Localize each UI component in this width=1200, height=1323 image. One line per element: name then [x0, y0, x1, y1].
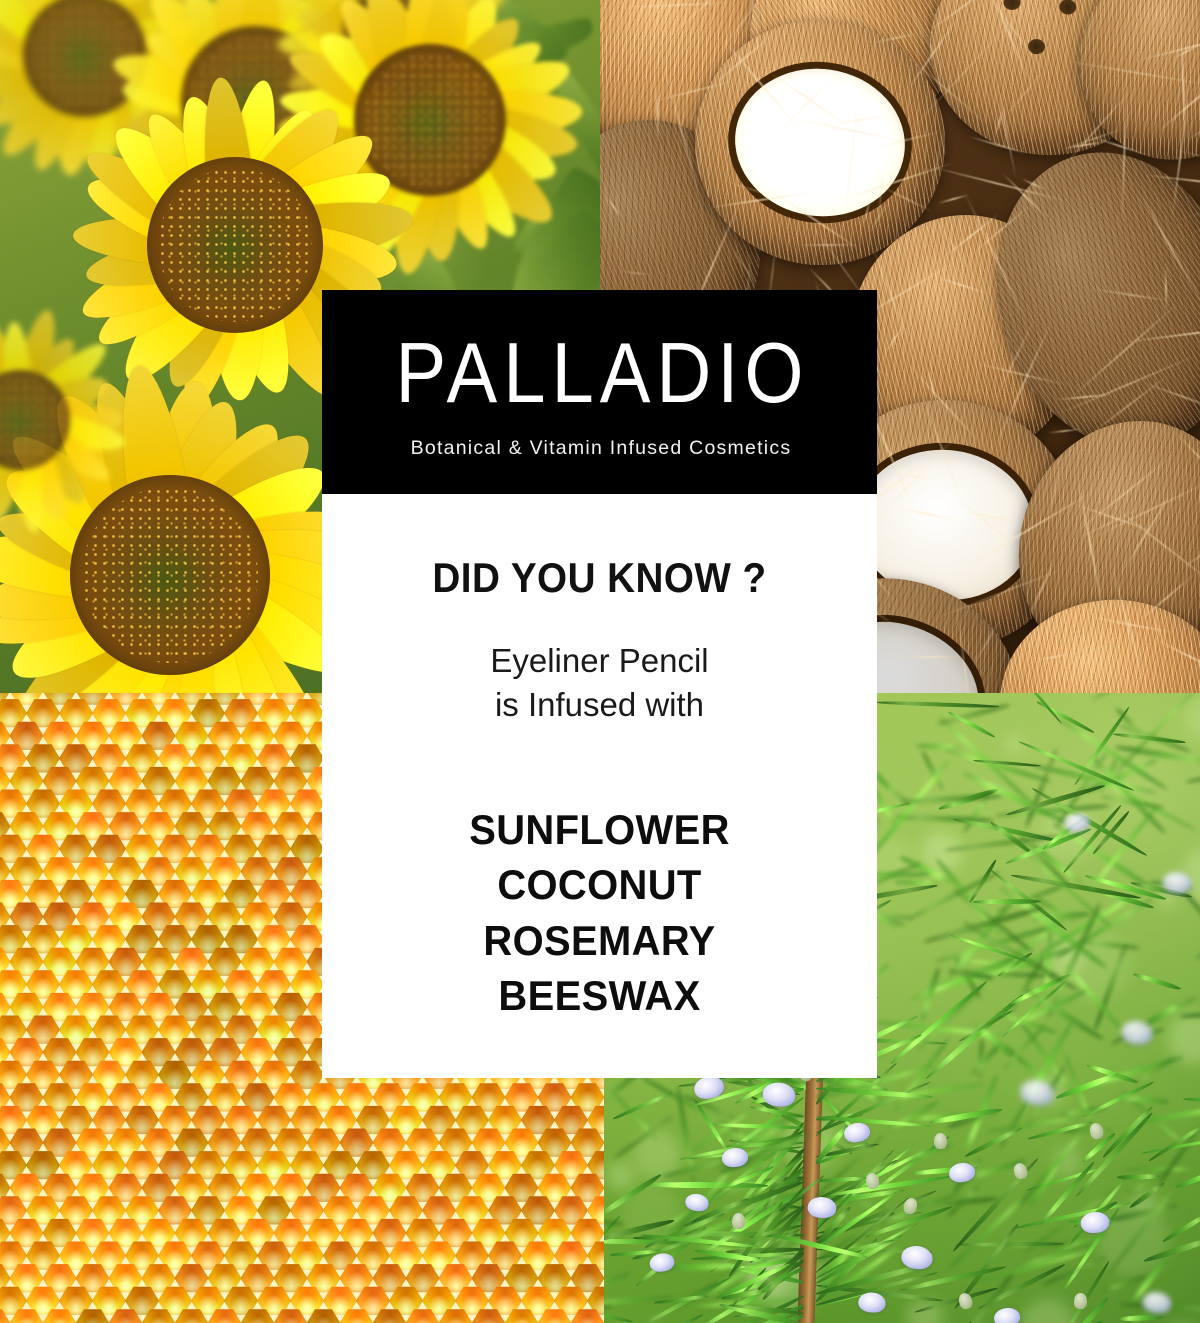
brand-tagline: Botanical & Vitamin Infused Cosmetics [408, 437, 792, 460]
rosemary-bud [934, 1133, 947, 1149]
ingredient-item: COCONUT [336, 857, 863, 912]
card-body: DID YOU KNOW ? Eyeliner Pencil is Infuse… [322, 494, 877, 1024]
rosemary-bud [1074, 1293, 1088, 1309]
ingredient-item: ROSEMARY [336, 913, 863, 968]
subheadline-line-2: is Infused with [322, 683, 877, 727]
headline: DID YOU KNOW ? [344, 554, 855, 602]
ingredient-list: SUNFLOWER COCONUT ROSEMARY BEESWAX [336, 802, 863, 1024]
ingredient-item: BEESWAX [336, 968, 863, 1023]
sunflower-seed-disc [147, 157, 323, 333]
bokeh-highlight [1006, 736, 1024, 754]
coconut-fiber [1164, 263, 1167, 313]
info-card: PALLADIO Botanical & Vitamin Infused Cos… [322, 290, 877, 1078]
rosemary-bud [732, 1213, 746, 1230]
sunflower-bloom [0, 310, 130, 530]
subheadline: Eyeliner Pencil is Infused with [322, 639, 877, 727]
coconut-eye [1003, 0, 1021, 11]
ingredient-item: SUNFLOWER [336, 802, 863, 857]
rosemary-needle [972, 899, 1040, 904]
poster: PALLADIO Botanical & Vitamin Infused Cos… [0, 0, 1200, 1323]
brand-wordmark: PALLADIO [389, 331, 809, 416]
bokeh-highlight [606, 1161, 635, 1190]
subheadline-line-1: Eyeliner Pencil [322, 639, 877, 683]
coconut-eye [1059, 0, 1077, 15]
brand-logo-block: PALLADIO Botanical & Vitamin Infused Cos… [322, 290, 877, 494]
